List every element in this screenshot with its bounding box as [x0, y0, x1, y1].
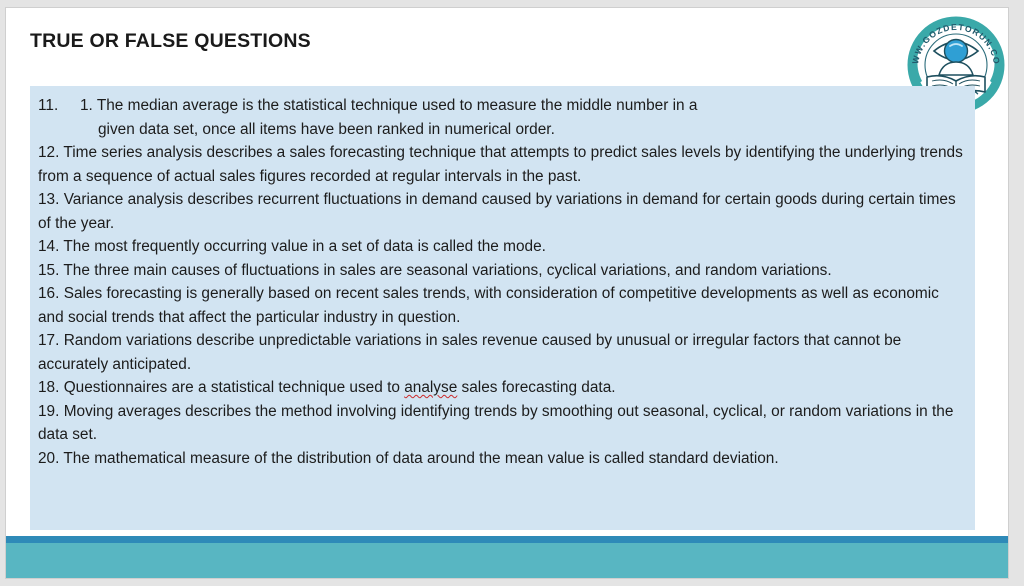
- question-number: 15.: [38, 262, 59, 279]
- question-number: 16.: [38, 285, 59, 302]
- question-sub-number: 1.: [80, 97, 93, 114]
- list-item: 12. Time series analysis describes a sal…: [38, 141, 965, 188]
- question-text: The most frequently occurring value in a…: [63, 238, 546, 255]
- question-text: The three main causes of fluctuations in…: [63, 262, 831, 279]
- question-number: 14.: [38, 238, 59, 255]
- question-text-after: sales forecasting data.: [457, 379, 615, 396]
- question-text: The mathematical measure of the distribu…: [63, 450, 778, 467]
- question-number: 13.: [38, 191, 59, 208]
- application-window: TRUE OR FALSE QUESTIONS WWW.GOZDETORUN: [0, 0, 1024, 586]
- list-item: 19. Moving averages describes the method…: [38, 400, 965, 447]
- question-text: Time series analysis describes a sales f…: [38, 144, 963, 185]
- list-item: 16. Sales forecasting is generally based…: [38, 282, 965, 329]
- question-line-2: given data set, once all items have been…: [80, 118, 965, 142]
- questions-panel: 11. 1. The median average is the statist…: [30, 86, 975, 530]
- list-item: 11. 1. The median average is the statist…: [38, 94, 965, 141]
- question-line-1: The median average is the statistical te…: [97, 97, 698, 114]
- question-number: 18.: [38, 379, 59, 396]
- question-text: Variance analysis describes recurrent fl…: [38, 191, 956, 232]
- list-item: 20. The mathematical measure of the dist…: [38, 447, 965, 471]
- page-title: TRUE OR FALSE QUESTIONS: [30, 30, 311, 53]
- list-item: 15. The three main causes of fluctuation…: [38, 259, 965, 283]
- questions-list: 11. 1. The median average is the statist…: [38, 94, 965, 470]
- question-number: 20.: [38, 450, 59, 467]
- question-text: Sales forecasting is generally based on …: [38, 285, 939, 326]
- footer-accent-bar-dark: [6, 536, 1008, 543]
- slide-canvas: TRUE OR FALSE QUESTIONS WWW.GOZDETORUN: [6, 8, 1008, 578]
- question-number: 12.: [38, 144, 59, 161]
- question-text-before: Questionnaires are a statistical techniq…: [64, 379, 405, 396]
- list-item: 17. Random variations describe unpredict…: [38, 329, 965, 376]
- list-item: 13. Variance analysis describes recurren…: [38, 188, 965, 235]
- spell-error-word[interactable]: analyse: [404, 379, 457, 396]
- question-text: Random variations describe unpredictable…: [38, 332, 901, 373]
- question-number: 11.: [38, 94, 76, 118]
- question-number: 17.: [38, 332, 59, 349]
- question-number: 19.: [38, 403, 59, 420]
- question-body: 1. The median average is the statistical…: [76, 94, 965, 141]
- question-text: Moving averages describes the method inv…: [38, 403, 953, 444]
- list-item: 14. The most frequently occurring value …: [38, 235, 965, 259]
- footer-accent-bar-teal: [6, 543, 1008, 578]
- list-item: 18. Questionnaires are a statistical tec…: [38, 376, 965, 400]
